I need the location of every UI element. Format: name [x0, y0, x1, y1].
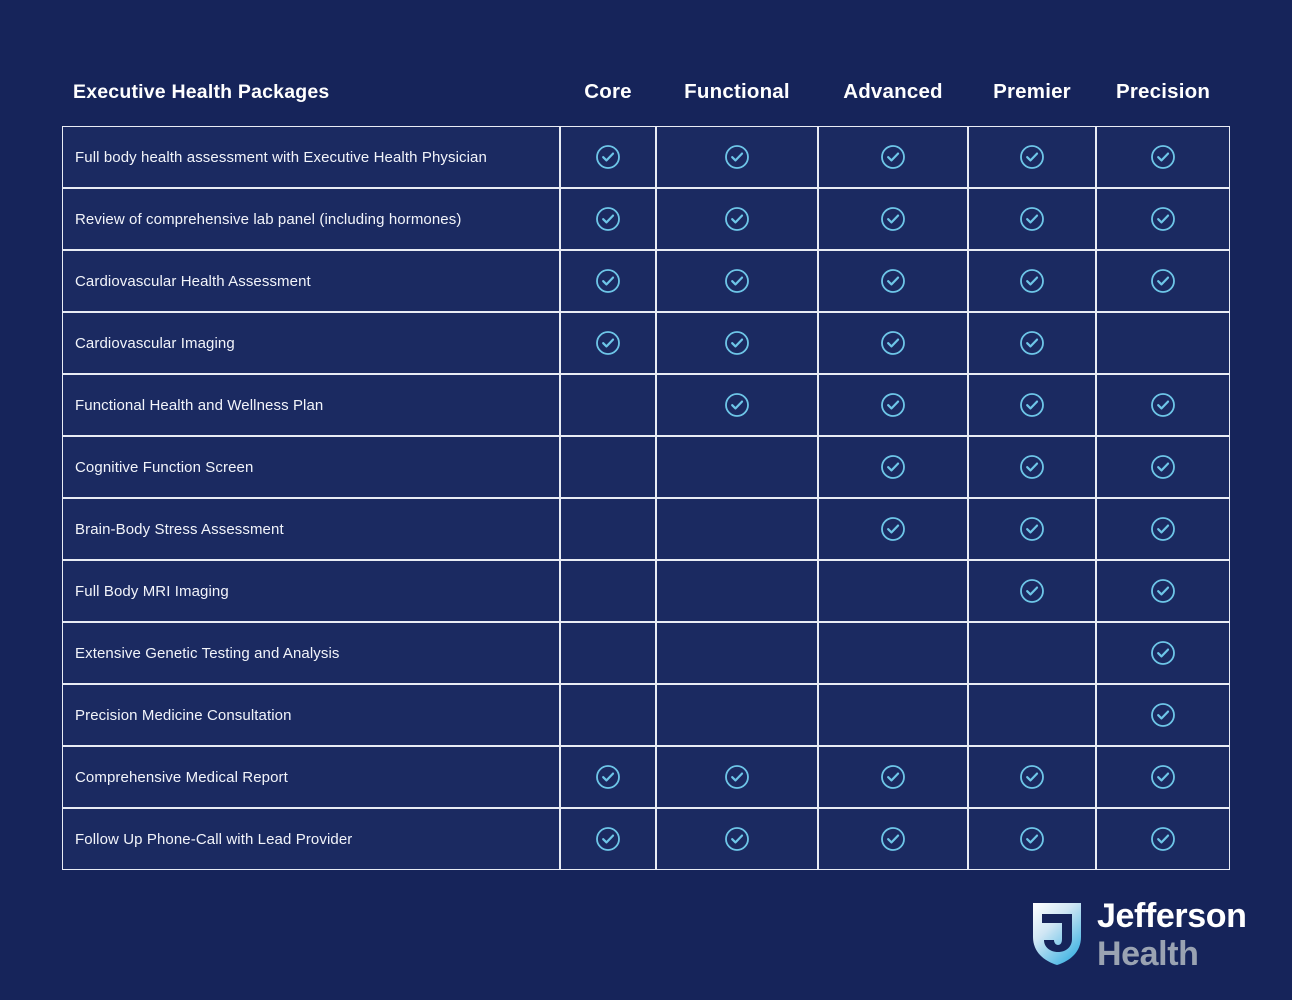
check-circle-icon	[1150, 640, 1176, 666]
check-circle-icon	[595, 144, 621, 170]
feature-label: Follow Up Phone-Call with Lead Provider	[62, 808, 560, 870]
check-circle-icon	[880, 516, 906, 542]
executive-health-packages-table: Executive Health Packages Core Functiona…	[62, 80, 1230, 870]
check-circle-icon	[880, 392, 906, 418]
cell-precision-included	[1096, 374, 1230, 436]
column-header-core: Core	[560, 80, 656, 126]
check-circle-icon	[1150, 144, 1176, 170]
feature-label: Extensive Genetic Testing and Analysis	[62, 622, 560, 684]
table-row: Full body health assessment with Executi…	[62, 126, 1230, 188]
check-circle-icon	[1150, 826, 1176, 852]
column-header-premier: Premier	[968, 80, 1096, 126]
cell-advanced-included	[818, 126, 968, 188]
cell-functional-included	[656, 808, 818, 870]
check-circle-icon	[595, 206, 621, 232]
check-circle-icon	[724, 826, 750, 852]
cell-core-excluded	[560, 560, 656, 622]
cell-advanced-included	[818, 498, 968, 560]
check-circle-icon	[1019, 764, 1045, 790]
check-circle-icon	[1019, 392, 1045, 418]
cell-advanced-included	[818, 374, 968, 436]
jefferson-shield-icon	[1031, 901, 1083, 967]
cell-precision-included	[1096, 808, 1230, 870]
cell-advanced-included	[818, 250, 968, 312]
check-circle-icon	[1150, 392, 1176, 418]
check-circle-icon	[880, 454, 906, 480]
table-row: Full Body MRI Imaging	[62, 560, 1230, 622]
check-circle-icon	[1150, 268, 1176, 294]
table-row: Precision Medicine Consultation	[62, 684, 1230, 746]
table-row: Functional Health and Wellness Plan	[62, 374, 1230, 436]
check-circle-icon	[1150, 702, 1176, 728]
feature-label: Full body health assessment with Executi…	[62, 126, 560, 188]
cell-precision-included	[1096, 126, 1230, 188]
cell-core-included	[560, 808, 656, 870]
cell-core-excluded	[560, 498, 656, 560]
cell-precision-included	[1096, 560, 1230, 622]
table-row: Comprehensive Medical Report	[62, 746, 1230, 808]
check-circle-icon	[724, 206, 750, 232]
logo-sub-brand-name: Health	[1097, 937, 1246, 971]
check-circle-icon	[880, 330, 906, 356]
feature-label: Review of comprehensive lab panel (inclu…	[62, 188, 560, 250]
feature-label: Brain-Body Stress Assessment	[62, 498, 560, 560]
check-circle-icon	[724, 268, 750, 294]
check-circle-icon	[1150, 578, 1176, 604]
logo-wordmark: Jefferson Health	[1097, 899, 1246, 971]
feature-label: Precision Medicine Consultation	[62, 684, 560, 746]
feature-label: Cognitive Function Screen	[62, 436, 560, 498]
cell-advanced-included	[818, 436, 968, 498]
check-circle-icon	[1019, 206, 1045, 232]
table-row: Cardiovascular Health Assessment	[62, 250, 1230, 312]
check-circle-icon	[1019, 330, 1045, 356]
column-header-advanced: Advanced	[818, 80, 968, 126]
cell-advanced-excluded	[818, 622, 968, 684]
cell-precision-excluded	[1096, 312, 1230, 374]
cell-functional-excluded	[656, 684, 818, 746]
cell-premier-included	[968, 746, 1096, 808]
cell-functional-included	[656, 374, 818, 436]
check-circle-icon	[724, 144, 750, 170]
check-circle-icon	[880, 268, 906, 294]
check-circle-icon	[880, 826, 906, 852]
page-title: Executive Health Packages	[62, 80, 560, 126]
cell-precision-included	[1096, 436, 1230, 498]
cell-core-included	[560, 188, 656, 250]
cell-functional-excluded	[656, 498, 818, 560]
feature-label: Comprehensive Medical Report	[62, 746, 560, 808]
jefferson-health-logo: Jefferson Health	[1031, 901, 1221, 973]
column-header-functional: Functional	[656, 80, 818, 126]
cell-advanced-included	[818, 746, 968, 808]
cell-functional-included	[656, 746, 818, 808]
package-comparison-page: Executive Health Packages Core Functiona…	[0, 0, 1292, 1000]
cell-premier-included	[968, 374, 1096, 436]
cell-core-included	[560, 250, 656, 312]
table-row: Extensive Genetic Testing and Analysis	[62, 622, 1230, 684]
cell-core-excluded	[560, 684, 656, 746]
cell-precision-included	[1096, 498, 1230, 560]
cell-advanced-included	[818, 188, 968, 250]
cell-premier-included	[968, 126, 1096, 188]
packages-table-container: Executive Health Packages Core Functiona…	[62, 80, 1230, 870]
check-circle-icon	[1019, 268, 1045, 294]
table-row: Review of comprehensive lab panel (inclu…	[62, 188, 1230, 250]
cell-premier-included	[968, 436, 1096, 498]
feature-label: Cardiovascular Health Assessment	[62, 250, 560, 312]
table-row: Cognitive Function Screen	[62, 436, 1230, 498]
cell-core-included	[560, 312, 656, 374]
cell-premier-included	[968, 498, 1096, 560]
check-circle-icon	[1150, 516, 1176, 542]
check-circle-icon	[1019, 578, 1045, 604]
check-circle-icon	[1150, 764, 1176, 790]
header-row: Executive Health Packages Core Functiona…	[62, 80, 1230, 126]
check-circle-icon	[724, 764, 750, 790]
cell-functional-included	[656, 126, 818, 188]
logo-brand-name: Jefferson	[1097, 899, 1246, 933]
cell-precision-included	[1096, 746, 1230, 808]
table-row: Brain-Body Stress Assessment	[62, 498, 1230, 560]
table-header: Executive Health Packages Core Functiona…	[62, 80, 1230, 126]
table-row: Follow Up Phone-Call with Lead Provider	[62, 808, 1230, 870]
check-circle-icon	[595, 330, 621, 356]
column-header-precision: Precision	[1096, 80, 1230, 126]
check-circle-icon	[1019, 826, 1045, 852]
cell-advanced-excluded	[818, 560, 968, 622]
cell-premier-included	[968, 560, 1096, 622]
cell-functional-excluded	[656, 622, 818, 684]
cell-premier-excluded	[968, 622, 1096, 684]
cell-precision-included	[1096, 622, 1230, 684]
cell-precision-included	[1096, 188, 1230, 250]
cell-core-included	[560, 126, 656, 188]
check-circle-icon	[595, 268, 621, 294]
cell-functional-included	[656, 312, 818, 374]
cell-premier-included	[968, 312, 1096, 374]
cell-functional-included	[656, 188, 818, 250]
check-circle-icon	[1150, 454, 1176, 480]
cell-advanced-included	[818, 808, 968, 870]
cell-advanced-excluded	[818, 684, 968, 746]
check-circle-icon	[1019, 454, 1045, 480]
check-circle-icon	[880, 206, 906, 232]
feature-label: Functional Health and Wellness Plan	[62, 374, 560, 436]
feature-label: Cardiovascular Imaging	[62, 312, 560, 374]
check-circle-icon	[595, 826, 621, 852]
check-circle-icon	[1150, 206, 1176, 232]
cell-core-excluded	[560, 622, 656, 684]
check-circle-icon	[595, 764, 621, 790]
cell-advanced-included	[818, 312, 968, 374]
cell-core-excluded	[560, 436, 656, 498]
cell-functional-excluded	[656, 436, 818, 498]
table-row: Cardiovascular Imaging	[62, 312, 1230, 374]
check-circle-icon	[724, 392, 750, 418]
cell-premier-excluded	[968, 684, 1096, 746]
check-circle-icon	[880, 144, 906, 170]
check-circle-icon	[724, 330, 750, 356]
cell-functional-included	[656, 250, 818, 312]
check-circle-icon	[880, 764, 906, 790]
cell-core-included	[560, 746, 656, 808]
cell-precision-included	[1096, 250, 1230, 312]
check-circle-icon	[1019, 144, 1045, 170]
check-circle-icon	[1019, 516, 1045, 542]
feature-label: Full Body MRI Imaging	[62, 560, 560, 622]
cell-precision-included	[1096, 684, 1230, 746]
table-body: Full body health assessment with Executi…	[62, 126, 1230, 870]
cell-premier-included	[968, 250, 1096, 312]
cell-premier-included	[968, 188, 1096, 250]
cell-premier-included	[968, 808, 1096, 870]
cell-functional-excluded	[656, 560, 818, 622]
cell-core-excluded	[560, 374, 656, 436]
